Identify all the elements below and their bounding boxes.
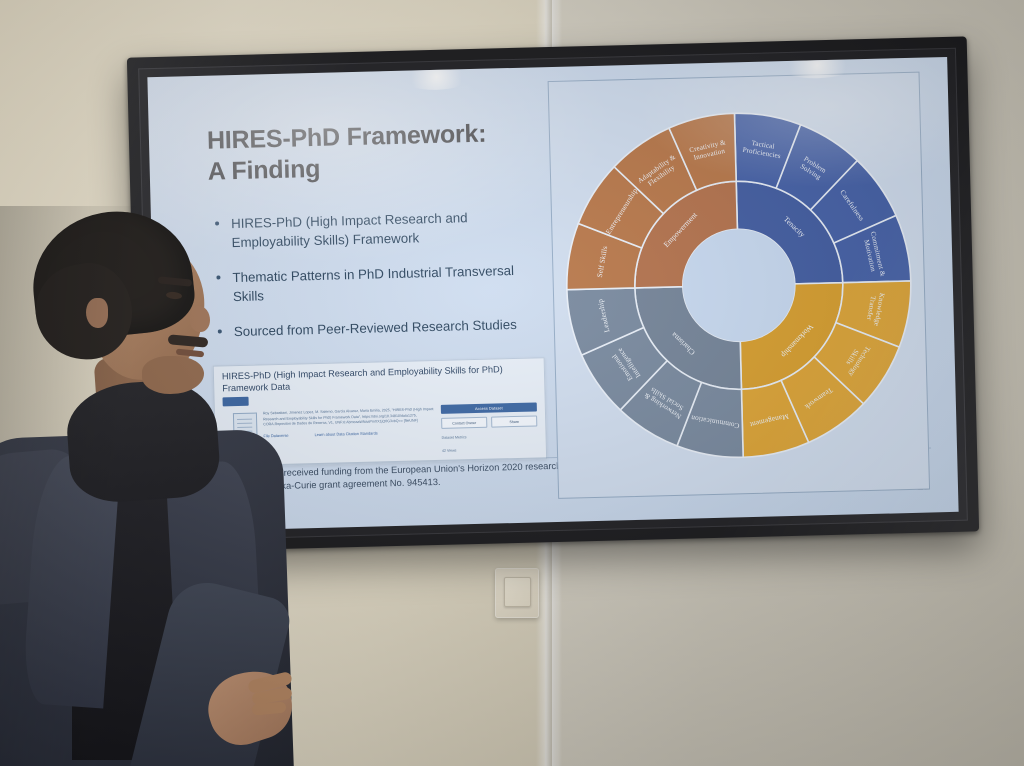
access-dataset-button[interactable]: Access Dataset: [441, 402, 537, 413]
presenter-ear: [86, 298, 108, 328]
skills-wheel-svg: TenacityWorkmanshipCharismaEmpowermentTa…: [554, 101, 923, 470]
dataset-secondary-buttons: Contact Owner Share: [441, 415, 537, 428]
dataset-actions: Access Dataset Contact Owner Share Datas…: [441, 402, 538, 454]
skills-wheel-panel: TenacityWorkmanshipCharismaEmpowermentTa…: [548, 72, 930, 499]
share-button[interactable]: Share: [491, 415, 537, 427]
presenter: [0, 206, 306, 766]
dataset-metrics-label: Dataset Metrics: [442, 432, 538, 441]
presenter-turtleneck: [64, 377, 222, 505]
presenter-nose: [190, 306, 210, 332]
presenter-chin: [142, 356, 204, 394]
dataset-views-label: 42 Views: [442, 445, 538, 454]
dataset-link-standards[interactable]: Learn about Data Citation Standards: [314, 430, 377, 437]
light-switch-rocker[interactable]: [504, 577, 531, 607]
page-title: HIRES-PhD Framework: A Finding: [207, 117, 538, 186]
contact-owner-button[interactable]: Contact Owner: [441, 417, 487, 429]
skills-wheel: TenacityWorkmanshipCharismaEmpowermentTa…: [549, 73, 929, 498]
screenshot-scene: 23-May-2024 21 HIRES-PhD Framework: A Fi…: [0, 0, 1024, 766]
